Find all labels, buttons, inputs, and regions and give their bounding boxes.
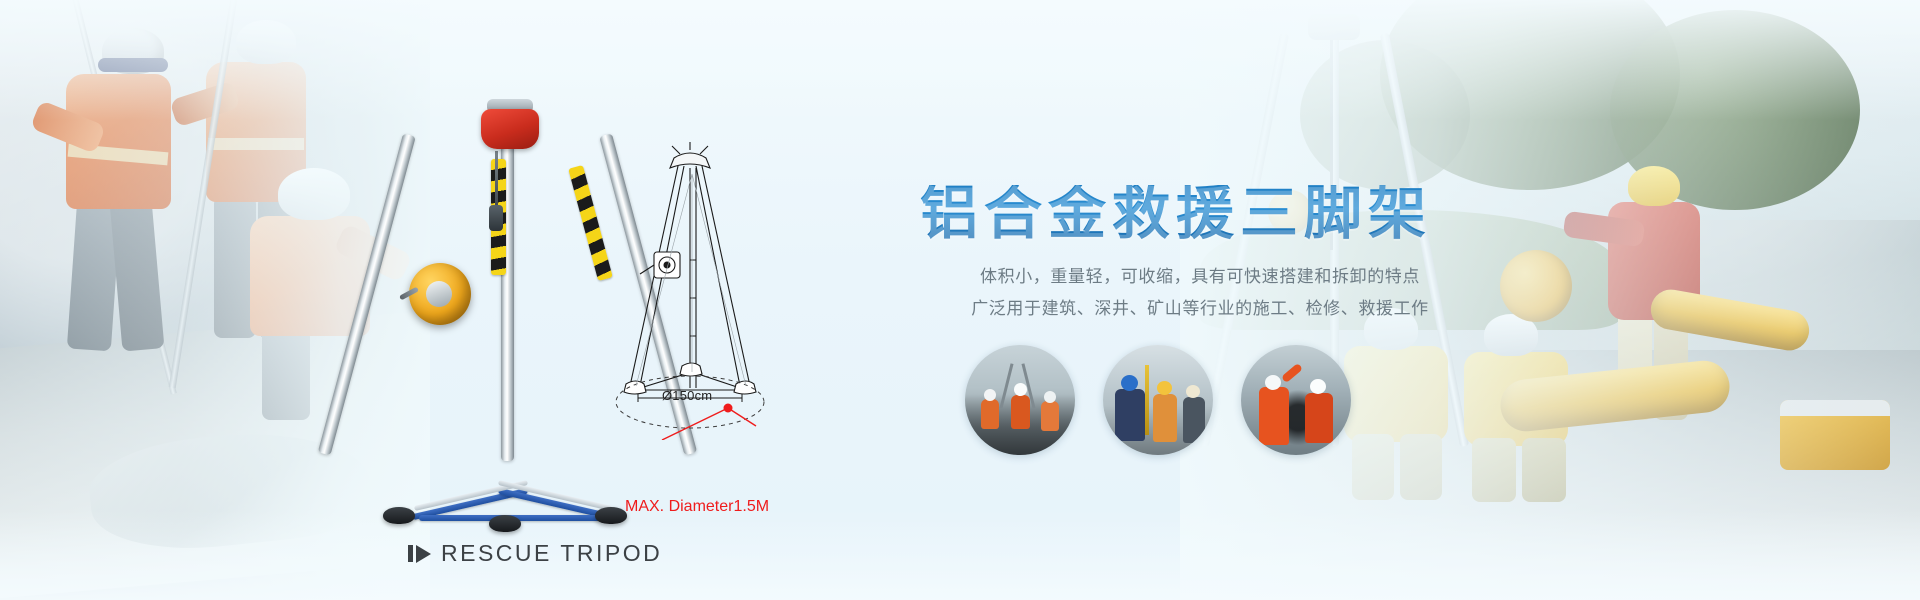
- thumbnail-row: [965, 345, 1385, 455]
- max-diameter-label: MAX. Diameter1.5M: [625, 498, 769, 516]
- page-title: 铝合金救援三脚架: [920, 185, 1480, 243]
- rubber-foot-left: [383, 507, 415, 524]
- winch-drum: [426, 281, 452, 307]
- tripod-base-straps: [405, 447, 617, 525]
- torso: [1259, 387, 1289, 445]
- person: [1039, 391, 1061, 441]
- post: [1145, 365, 1149, 435]
- helmet: [1157, 381, 1172, 395]
- helmet: [1310, 379, 1326, 394]
- rescue-tripod-label: RESCUE TRIPOD: [408, 540, 662, 567]
- bottom-fade-overlay: [0, 510, 1920, 600]
- helmet: [1014, 383, 1027, 396]
- person: [979, 389, 1001, 441]
- thumb-manhole-rescue[interactable]: [1241, 345, 1351, 455]
- helmet: [1121, 375, 1138, 391]
- subtitle-line-1: 体积小，重量轻，可收缩，具有可快速搭建和拆卸的特点: [920, 261, 1480, 293]
- thumb-workers-inspection[interactable]: [1103, 345, 1213, 455]
- helmet: [1044, 391, 1056, 403]
- helmet: [984, 389, 996, 401]
- pulley: [489, 205, 503, 231]
- rubber-foot-center: [489, 515, 521, 532]
- rescue-tripod-text: RESCUE TRIPOD: [441, 540, 662, 567]
- torso: [1011, 395, 1030, 429]
- helmet: [1265, 375, 1281, 390]
- torso: [981, 399, 999, 429]
- person: [1151, 381, 1179, 455]
- person: [1303, 379, 1337, 455]
- torso: [1115, 389, 1145, 441]
- headline-block: 铝合金救援三脚架 体积小，重量轻，可收缩，具有可快速搭建和拆卸的特点 广泛用于建…: [920, 185, 1480, 326]
- torso: [1041, 401, 1059, 431]
- person-pointing: [1255, 367, 1295, 455]
- product-banner: Ø150cm MAX. Diameter1.5M 铝合金救援三脚架 体积小，重量…: [0, 0, 1920, 600]
- thumb-site-rescue-team[interactable]: [965, 345, 1075, 455]
- product-tripod-photo: [395, 95, 625, 545]
- torso: [1305, 393, 1333, 443]
- torso: [1183, 397, 1205, 443]
- helmet: [1186, 385, 1200, 398]
- rubber-foot-right: [595, 507, 627, 524]
- tripod-line-diagram: Ø150cm: [600, 140, 780, 440]
- person: [1113, 375, 1147, 455]
- person: [1181, 385, 1207, 455]
- subtitle-line-2: 广泛用于建筑、深井、矿山等行业的施工、检修、救援工作: [920, 293, 1480, 325]
- torso: [1153, 394, 1177, 442]
- lifting-chain: [495, 151, 498, 209]
- top-fade-overlay: [0, 0, 1920, 120]
- subtitle-block: 体积小，重量轻，可收缩，具有可快速搭建和拆卸的特点 广泛用于建筑、深井、矿山等行…: [920, 261, 1480, 326]
- tripod-head-red: [481, 109, 539, 149]
- play-bar-icon: [408, 545, 431, 563]
- diameter-label: Ø150cm: [662, 388, 712, 403]
